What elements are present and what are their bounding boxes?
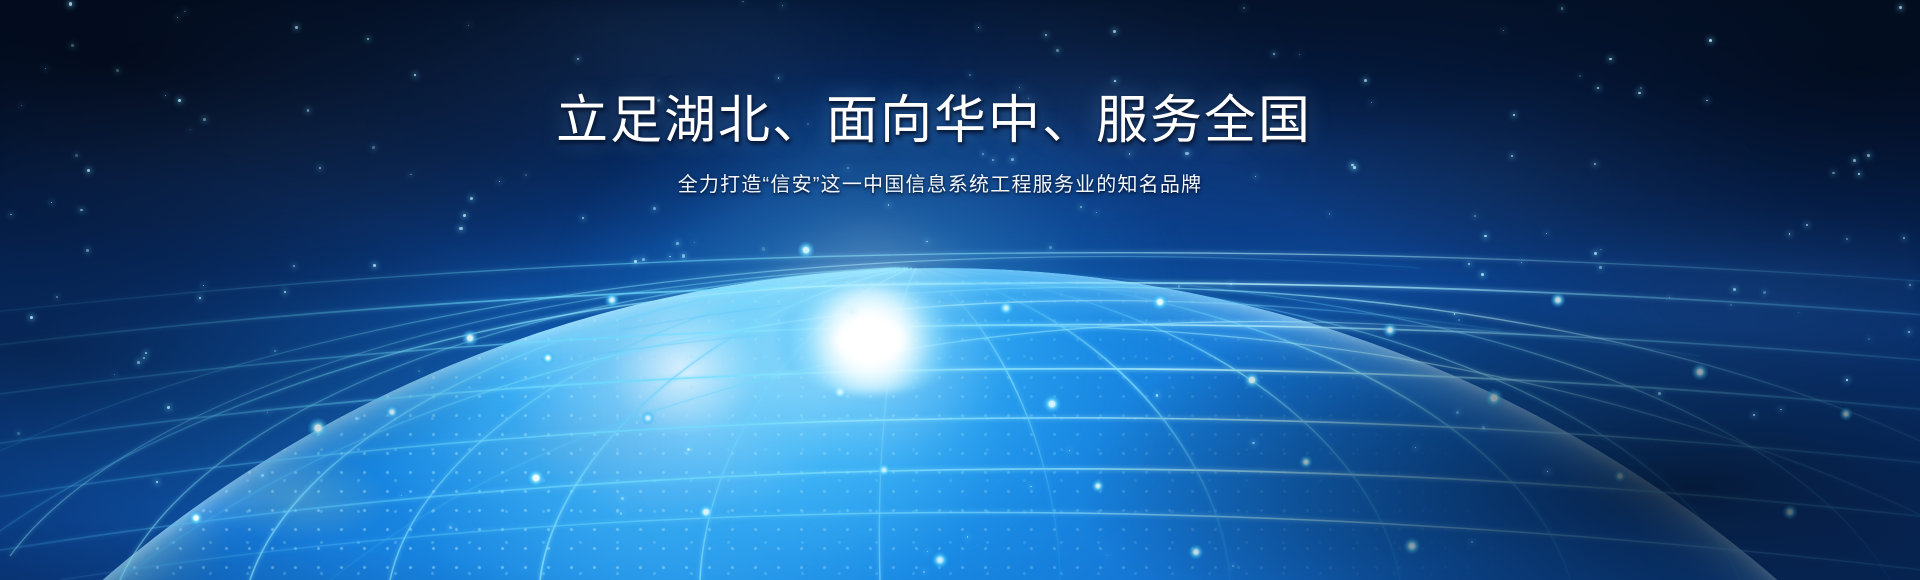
star-particle	[45, 68, 46, 69]
star-particle	[267, 412, 269, 414]
star-particle	[418, 370, 420, 372]
star-particle	[1899, 6, 1902, 9]
star-particle	[653, 207, 656, 210]
star-particle	[888, 204, 890, 206]
star-particle	[621, 497, 624, 500]
star-particle	[927, 551, 928, 552]
star-particle	[1806, 224, 1808, 226]
star-particle	[17, 432, 20, 435]
star-particle	[1243, 7, 1246, 10]
star-particle	[367, 38, 370, 41]
star-particle	[1579, 75, 1581, 77]
star-particle	[449, 526, 452, 529]
star-particle	[116, 69, 119, 72]
star-particle	[1049, 246, 1052, 249]
star-particle	[56, 296, 58, 298]
star-particle	[459, 227, 462, 230]
star-particle	[145, 352, 147, 354]
star-particle	[1230, 283, 1232, 285]
star-particle	[1045, 34, 1047, 36]
star-particle	[1458, 319, 1460, 321]
star-particle	[1561, 7, 1564, 10]
star-particle	[1468, 263, 1471, 266]
star-particle	[969, 74, 971, 76]
star-particle	[694, 242, 696, 244]
star-particle	[978, 27, 980, 29]
star-particle	[1299, 54, 1301, 56]
star-particle	[184, 11, 186, 13]
star-particle	[1763, 291, 1766, 294]
star-particle	[1364, 79, 1367, 82]
star-particle	[926, 241, 928, 243]
star-particle	[51, 202, 52, 203]
star-particle	[1484, 235, 1487, 238]
star-particle	[1846, 379, 1848, 381]
star-particle	[1903, 237, 1905, 239]
star-particle	[261, 474, 264, 477]
star-particle	[1178, 285, 1181, 288]
star-particle	[1019, 87, 1020, 88]
star-particle	[894, 271, 896, 273]
star-particle	[636, 421, 638, 423]
star-particle	[634, 260, 637, 263]
star-particle	[1798, 312, 1800, 314]
star-particle	[1733, 288, 1736, 291]
star-particle	[203, 285, 205, 287]
star-particle	[1273, 53, 1275, 55]
star-particle	[742, 1, 744, 3]
star-particle	[1503, 30, 1504, 31]
star-particle	[177, 17, 178, 18]
star-particle	[676, 242, 679, 245]
star-particle	[582, 217, 584, 219]
star-particle	[1056, 49, 1059, 52]
star-particle	[1730, 304, 1733, 307]
star-particle	[1780, 409, 1781, 410]
star-particle	[86, 249, 89, 252]
star-particle	[1789, 233, 1791, 235]
star-particle	[1599, 266, 1602, 269]
star-particle	[1329, 213, 1330, 214]
star-particle	[687, 448, 690, 451]
star-particle	[1415, 447, 1416, 448]
star-particle	[782, 5, 783, 6]
star-particle	[71, 44, 74, 47]
hero-banner: 立足湖北、面向华中、服务全国 全力打造“信安”这一中国信息系统工程服务业的知名品…	[0, 0, 1920, 580]
star-particle	[669, 256, 671, 258]
star-particle	[1114, 80, 1116, 82]
star-particle	[293, 265, 295, 267]
star-particle	[1454, 313, 1456, 315]
star-particle	[114, 374, 116, 376]
star-particle	[642, 258, 645, 261]
star-particle	[1909, 284, 1911, 286]
star-particle	[414, 74, 416, 76]
star-particle	[1481, 273, 1484, 276]
page-title: 立足湖北、面向华中、服务全国	[0, 92, 1920, 150]
star-particle	[1232, 565, 1234, 567]
star-particle	[967, 536, 969, 538]
star-particle	[137, 361, 140, 364]
star-particle	[1474, 215, 1476, 217]
star-particle	[1113, 30, 1116, 33]
star-particle	[401, 495, 402, 496]
star-particle	[143, 357, 146, 360]
star-particle	[1609, 58, 1612, 61]
star-particle	[1594, 252, 1597, 255]
star-particle	[1846, 238, 1848, 240]
star-particle	[1669, 297, 1670, 298]
page-subtitle: 全力打造“信安”这一中国信息系统工程服务业的知名品牌	[0, 172, 1920, 198]
star-particle	[1868, 338, 1870, 340]
star-particle	[682, 254, 685, 257]
star-particle	[851, 310, 854, 313]
star-particle	[1482, 426, 1485, 429]
star-particle	[463, 214, 466, 217]
star-particle	[284, 291, 286, 293]
star-particle	[762, 247, 765, 250]
star-particle	[1156, 394, 1159, 397]
star-particle	[1597, 87, 1599, 89]
star-particle	[1547, 471, 1548, 472]
star-particle	[274, 350, 276, 352]
star-particle	[620, 512, 623, 515]
star-particle	[30, 316, 33, 319]
star-particle	[1908, 331, 1910, 333]
star-particle	[1709, 39, 1712, 42]
star-particle	[468, 25, 469, 26]
star-particle	[373, 264, 376, 267]
star-particle	[1252, 442, 1255, 445]
star-particle	[156, 481, 157, 482]
star-particle	[355, 417, 358, 420]
star-particle	[1600, 249, 1602, 251]
star-particle	[1107, 555, 1109, 557]
star-particle	[1658, 392, 1661, 395]
star-particle	[1080, 206, 1082, 208]
star-particle	[1030, 486, 1032, 488]
star-particle	[199, 297, 201, 299]
star-particle	[80, 209, 83, 212]
star-particle	[923, 571, 926, 574]
star-particle	[778, 77, 780, 79]
star-field	[0, 0, 1920, 580]
banner-copy: 立足湖北、面向华中、服务全国 全力打造“信安”这一中国信息系统工程服务业的知名品…	[0, 92, 1920, 198]
star-particle	[295, 26, 298, 29]
star-particle	[1456, 411, 1459, 414]
star-particle	[1096, 212, 1098, 214]
star-particle	[1753, 414, 1755, 416]
star-particle	[69, 2, 72, 5]
star-particle	[1640, 87, 1642, 89]
star-particle	[577, 58, 579, 60]
star-particle	[1471, 541, 1474, 544]
star-particle	[1546, 233, 1547, 234]
star-particle	[10, 214, 11, 215]
star-particle	[167, 406, 170, 409]
star-particle	[1521, 262, 1522, 263]
star-particle	[1069, 450, 1070, 451]
